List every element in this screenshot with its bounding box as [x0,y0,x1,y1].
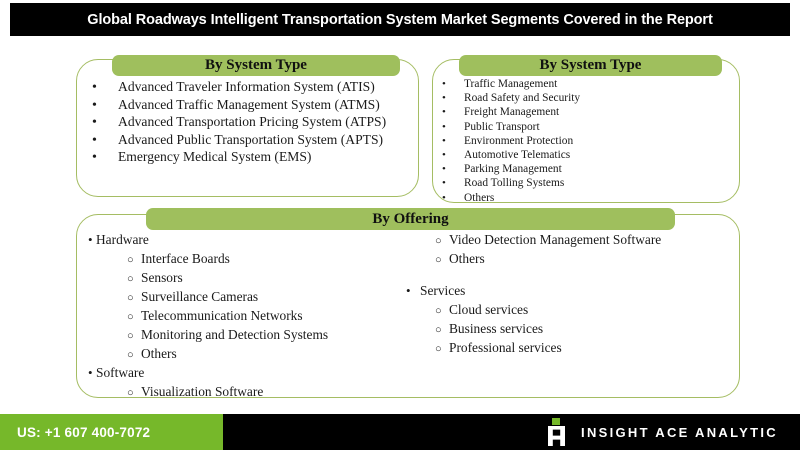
list-item-label: Road Safety and Security [464,92,580,104]
bullet-icon: • [92,134,118,148]
list-system-type-right: •Traffic Management•Road Safety and Secu… [442,78,580,206]
list-item-label: Freight Management [464,106,559,118]
list-item-label: Others [464,192,494,204]
bullet-icon: ○ [435,255,449,266]
list-item-label: Others [449,251,485,267]
list-item-label: Telecommunication Networks [141,308,303,324]
bullet-icon: ○ [127,388,141,399]
list-item-label: Visualization Software [141,384,263,400]
page-title-bar: Global Roadways Intelligent Transportati… [10,3,790,36]
list-item-label: Parking Management [464,163,562,175]
list-offering-left-column: •Hardware○Interface Boards○Sensors○Surve… [88,232,328,403]
list-item-label: Advanced Public Transportation System (A… [118,132,383,148]
bullet-icon: ○ [435,236,449,247]
page-title: Global Roadways Intelligent Transportati… [87,12,712,28]
list-item-label: Automotive Telematics [464,149,570,161]
list-offering-right-column: ○Video Detection Management Software○Oth… [396,232,661,359]
list-item: •Emergency Medical System (EMS) [92,149,386,167]
list-item: •Road Tolling Systems [442,177,580,191]
list-item: ○Visualization Software [88,384,328,403]
list-item-label: Advanced Transportation Pricing System (… [118,114,386,130]
list-item: •Advanced Public Transportation System (… [92,132,386,150]
list-item: ○Interface Boards [88,251,328,270]
list-item: ○Others [88,346,328,365]
list-item-label: Others [141,346,177,362]
logo-letter-a-icon [548,426,565,446]
bullet-icon: • [442,79,464,90]
list-item: ○Others [396,251,661,270]
list-item-label: Business services [449,321,543,337]
list-item-label: Emergency Medical System (EMS) [118,149,311,165]
bullet-icon: • [442,107,464,118]
panel-header-system-type-right: By System Type [459,55,722,76]
list-spacer [396,270,661,283]
panel-header-offering: By Offering [146,208,675,230]
bullet-icon: • [442,164,464,175]
list-item: •Hardware [88,232,328,251]
list-item-label: Advanced Traveler Information System (AT… [118,79,375,95]
list-item: •Public Transport [442,121,580,135]
bullet-icon: ○ [127,312,141,323]
list-item: •Parking Management [442,163,580,177]
list-item: ○Sensors [88,270,328,289]
bullet-icon: • [442,136,464,147]
panel-header-label: By System Type [205,57,307,74]
brand-name-label: INSIGHT ACE ANALYTIC [581,425,778,440]
list-item-label: Software [96,365,144,381]
bullet-icon: • [88,366,96,379]
list-item-label: Monitoring and Detection Systems [141,327,328,343]
list-item: •Advanced Traveler Information System (A… [92,79,386,97]
panel-header-label: By Offering [372,211,448,228]
list-item: ○Cloud services [396,302,661,321]
panel-header-label: By System Type [540,57,642,74]
bullet-icon: ○ [127,331,141,342]
list-item-label: Advanced Traffic Management System (ATMS… [118,97,380,113]
footer-brand-block: INSIGHT ACE ANALYTIC [223,414,800,450]
bullet-icon: • [88,233,96,246]
list-item-label: Sensors [141,270,183,286]
bullet-icon: • [92,99,118,113]
list-item-label: Public Transport [464,121,540,133]
footer-phone-number: US: +1 607 400-7072 [0,425,150,440]
bullet-icon: ○ [127,350,141,361]
list-item: ○Professional services [396,340,661,359]
list-item-label: Video Detection Management Software [449,232,661,248]
bullet-icon: • [92,151,118,165]
bullet-icon: ○ [127,255,141,266]
bullet-icon: • [442,150,464,161]
list-item: •Advanced Traffic Management System (ATM… [92,97,386,115]
list-item-label: Interface Boards [141,251,230,267]
bullet-icon: ○ [435,325,449,336]
bullet-icon: ○ [435,344,449,355]
list-item: •Services [396,283,661,302]
list-item-label: Traffic Management [464,78,557,90]
bullet-icon: • [442,122,464,133]
footer-phone-block: US: +1 607 400-7072 [0,414,223,450]
bullet-icon: • [442,93,464,104]
bullet-icon: ○ [435,306,449,317]
insight-ace-logo-icon [548,418,565,446]
bullet-icon: • [406,284,420,297]
list-item-label: Surveillance Cameras [141,289,258,305]
list-item-label: Environment Protection [464,135,573,147]
bullet-icon: ○ [127,274,141,285]
list-item: •Environment Protection [442,135,580,149]
list-item-label: Services [420,283,465,299]
list-item: ○Business services [396,321,661,340]
brand-lockup: INSIGHT ACE ANALYTIC [548,418,800,446]
list-item: •Road Safety and Security [442,92,580,106]
bullet-icon: • [92,81,118,95]
bullet-icon: • [442,178,464,189]
bullet-icon: • [442,193,464,204]
list-item: •Automotive Telematics [442,149,580,163]
list-item: •Advanced Transportation Pricing System … [92,114,386,132]
footer-bar: US: +1 607 400-7072 INSIGHT ACE ANALYTIC [0,414,800,450]
list-item-label: Road Tolling Systems [464,177,564,189]
list-item: ○Surveillance Cameras [88,289,328,308]
list-item: •Traffic Management [442,78,580,92]
bullet-icon: ○ [127,293,141,304]
list-item: ○Video Detection Management Software [396,232,661,251]
list-item-label: Hardware [96,232,149,248]
panel-header-system-type-left: By System Type [112,55,400,76]
logo-dot-icon [552,418,560,425]
list-item: •Others [442,192,580,206]
list-item: ○Monitoring and Detection Systems [88,327,328,346]
bullet-icon: • [92,116,118,130]
list-system-type-left: •Advanced Traveler Information System (A… [92,79,386,167]
list-item-label: Cloud services [449,302,528,318]
list-item: •Software [88,365,328,384]
list-item: •Freight Management [442,106,580,120]
list-item-label: Professional services [449,340,562,356]
list-item: ○Telecommunication Networks [88,308,328,327]
